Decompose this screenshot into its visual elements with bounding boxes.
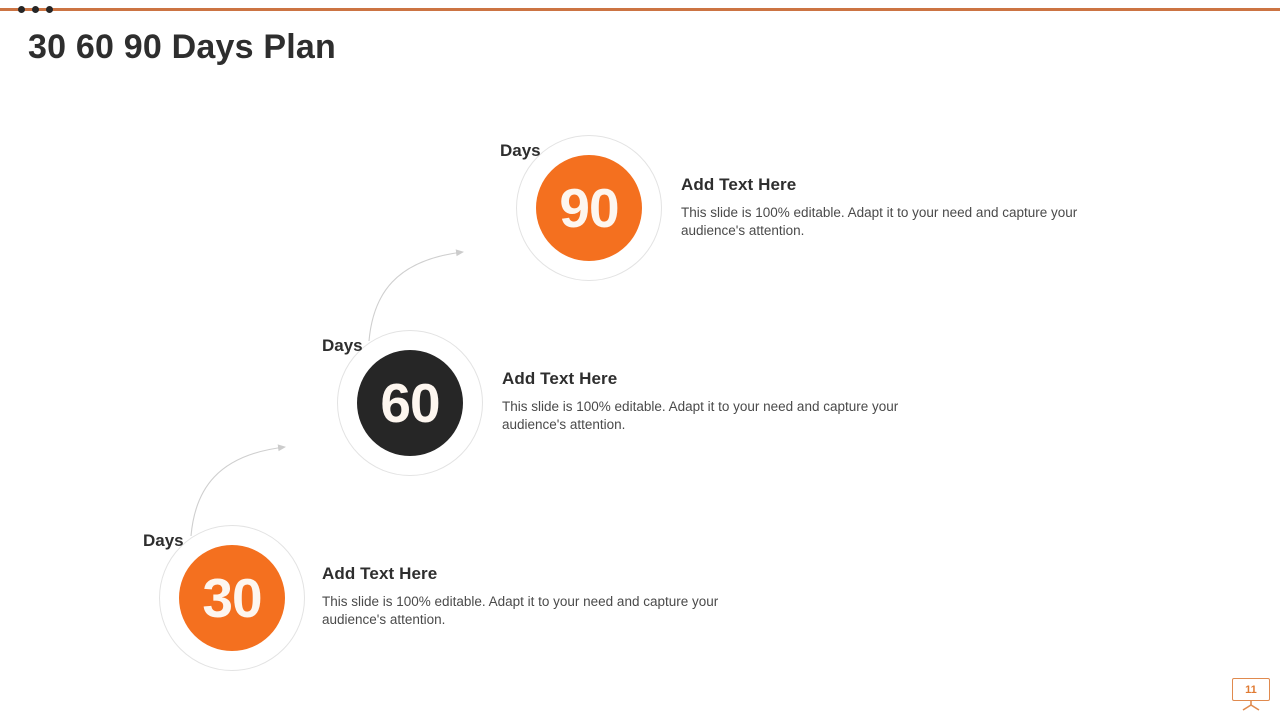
slide-root: 30 60 90 Days Plan 90 Days Add Text Here… — [0, 0, 1280, 720]
presentation-board-icon — [1232, 678, 1272, 712]
step-60-days-label: Days — [322, 336, 363, 356]
step-30-number: 30 — [179, 545, 285, 651]
page-title: 30 60 90 Days Plan — [28, 28, 336, 67]
step-90-days-label: Days — [500, 141, 541, 161]
step-60-number: 60 — [357, 350, 463, 456]
step-60-text-block: Add Text Here This slide is 100% editabl… — [502, 369, 942, 434]
step-90-heading: Add Text Here — [681, 175, 1121, 195]
step-60-body: This slide is 100% editable. Adapt it to… — [502, 398, 942, 434]
top-dots-group — [18, 4, 66, 16]
dot-2-icon — [32, 6, 39, 13]
dot-1-icon — [18, 6, 25, 13]
step-30-text-block: Add Text Here This slide is 100% editabl… — [322, 564, 762, 629]
dot-3-icon — [46, 6, 53, 13]
top-accent-bar — [0, 8, 1280, 11]
arrow-30-to-60 — [191, 447, 285, 536]
step-30-body: This slide is 100% editable. Adapt it to… — [322, 593, 762, 629]
step-30-days-label: Days — [143, 531, 184, 551]
page-number-badge[interactable]: 11 — [1232, 678, 1272, 712]
step-90-body: This slide is 100% editable. Adapt it to… — [681, 204, 1121, 240]
step-60-heading: Add Text Here — [502, 369, 942, 389]
arrow-60-to-90 — [369, 252, 463, 341]
step-90-text-block: Add Text Here This slide is 100% editabl… — [681, 175, 1121, 240]
step-90-number: 90 — [536, 155, 642, 261]
step-30-heading: Add Text Here — [322, 564, 762, 584]
